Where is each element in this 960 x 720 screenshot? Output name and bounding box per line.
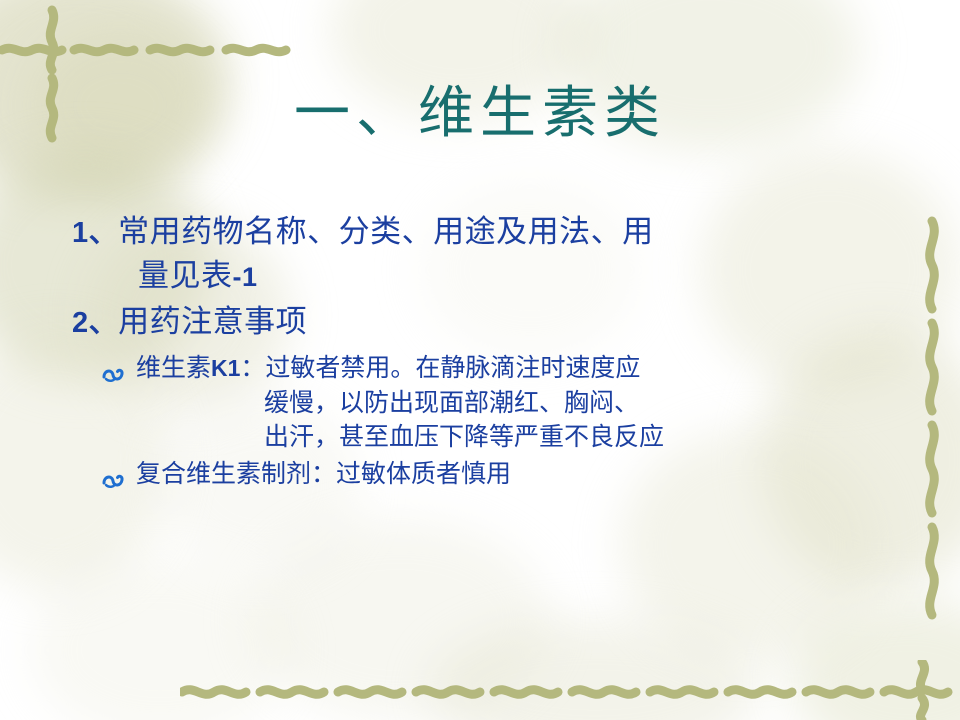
- bullet-1-lead: 维生素: [136, 355, 211, 382]
- swirl-wave-bullet-icon: [102, 360, 126, 378]
- bullet-1-text: ：过敏者禁用。在静脉滴注时速度应: [240, 355, 640, 382]
- outline-item-2-text: 用药注意事项: [118, 304, 307, 339]
- outline-item-1-wrap: 量见表-1: [72, 254, 892, 298]
- bullet-1-code: K1: [211, 355, 240, 381]
- outline-item-1-text: 常用药物名称、分类、用途及用法、用: [118, 214, 654, 249]
- list-item: 复合维生素制剂：过敏体质者慎用: [72, 458, 892, 493]
- bullet-2-lead: 复合维生素制剂：过敏体质者慎用: [136, 461, 511, 488]
- outline-body: 1、常用药物名称、分类、用途及用法、用 量见表-1 2、用药注意事项 维生素K1…: [72, 210, 892, 494]
- bullet-1-continuation-1: 缓慢，以防出现面部潮红、胸闷、: [136, 387, 892, 422]
- outline-item-1-number: 1、: [72, 217, 118, 249]
- outline-item-1: 1、常用药物名称、分类、用途及用法、用 量见表-1: [72, 210, 892, 298]
- outline-item-1-wrap-tail: -1: [233, 262, 258, 292]
- sub-bullet-list: 维生素K1：过敏者禁用。在静脉滴注时速度应 缓慢，以防出现面部潮红、胸闷、 出汗…: [72, 352, 892, 492]
- outline-item-1-wrap-text: 量见表: [138, 258, 233, 293]
- slide-content: 一、维生素类 1、常用药物名称、分类、用途及用法、用 量见表-1 2、用药注意事…: [0, 0, 960, 720]
- outline-item-2: 2、用药注意事项: [72, 300, 892, 344]
- presentation-slide: 一、维生素类 1、常用药物名称、分类、用途及用法、用 量见表-1 2、用药注意事…: [0, 0, 960, 720]
- bullet-1-continuation-2: 出汗，甚至血压下降等严重不良反应: [136, 421, 892, 456]
- outline-item-2-number: 2、: [72, 307, 118, 339]
- page-title: 一、维生素类: [0, 84, 960, 146]
- list-item: 维生素K1：过敏者禁用。在静脉滴注时速度应 缓慢，以防出现面部潮红、胸闷、 出汗…: [72, 352, 892, 456]
- swirl-wave-bullet-icon: [102, 466, 126, 484]
